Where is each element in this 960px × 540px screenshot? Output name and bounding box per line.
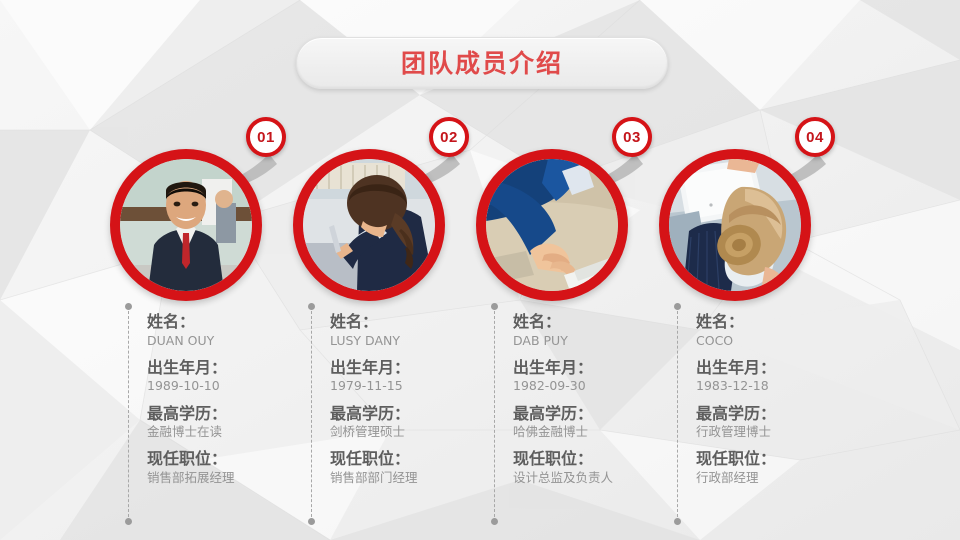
field-label-education: 最高学历： [147,404,287,424]
field-birth: 出生年月： 1983-12-18 [696,358,836,395]
field-position: 现任职位： 设计总监及负责人 [513,449,653,486]
field-value-name: LUSY DANY [330,333,470,349]
field-value-birth: 1989-10-10 [147,378,287,394]
member-photo-2[interactable] [293,149,445,301]
field-label-name: 姓名： [513,312,653,332]
field-birth: 出生年月： 1982-09-30 [513,358,653,395]
field-education: 最高学历： 金融博士在读 [147,404,287,441]
field-birth: 出生年月： 1989-10-10 [147,358,287,395]
field-name: 姓名： DUAN OUY [147,312,287,349]
member-photo-4[interactable] [659,149,811,301]
field-value-position: 设计总监及负责人 [513,470,653,486]
photo-image [669,159,801,291]
field-label-position: 现任职位： [330,449,470,469]
field-name: 姓名： COCO [696,312,836,349]
field-value-name: COCO [696,333,836,349]
field-position: 现任职位： 销售部拓展经理 [147,449,287,486]
badge-number: 04 [806,130,824,145]
badge-number: 02 [440,130,458,145]
badge-number: 01 [257,130,275,145]
member-divider-3 [491,303,499,525]
field-value-birth: 1979-11-15 [330,378,470,394]
field-label-birth: 出生年月： [330,358,470,378]
field-value-education: 剑桥管理硕士 [330,424,470,440]
member-info-3: 姓名： DAB PUY 出生年月： 1982-09-30 最高学历： 哈佛金融博… [513,312,653,486]
field-position: 现任职位： 销售部部门经理 [330,449,470,486]
field-education: 最高学历： 剑桥管理硕士 [330,404,470,441]
divider-dot-top [125,303,132,310]
field-value-name: DUAN OUY [147,333,287,349]
field-name: 姓名： LUSY DANY [330,312,470,349]
member-card-4[interactable]: 04 姓名： COCO 出生年月： 1983-12-18 最高学历： 行政管理博… [640,0,830,540]
field-label-position: 现任职位： [147,449,287,469]
field-label-education: 最高学历： [513,404,653,424]
photo-image [486,159,618,291]
field-value-position: 行政部经理 [696,470,836,486]
badge-number: 03 [623,130,641,145]
field-education: 最高学历： 哈佛金融博士 [513,404,653,441]
member-divider-1 [125,303,133,525]
field-label-education: 最高学历： [330,404,470,424]
divider-dashed-line [311,311,312,517]
divider-dot-top [491,303,498,310]
member-info-4: 姓名： COCO 出生年月： 1983-12-18 最高学历： 行政管理博士 现… [696,312,836,486]
field-education: 最高学历： 行政管理博士 [696,404,836,441]
divider-dashed-line [677,311,678,517]
field-label-name: 姓名： [330,312,470,332]
field-value-position: 销售部拓展经理 [147,470,287,486]
member-divider-4 [674,303,682,525]
photo-image [120,159,252,291]
field-value-position: 销售部部门经理 [330,470,470,486]
member-photo-1[interactable] [110,149,262,301]
field-label-name: 姓名： [696,312,836,332]
divider-dot-bottom [308,518,315,525]
divider-dot-bottom [674,518,681,525]
field-label-position: 现任职位： [696,449,836,469]
field-value-education: 行政管理博士 [696,424,836,440]
field-value-education: 哈佛金融博士 [513,424,653,440]
field-value-education: 金融博士在读 [147,424,287,440]
member-badge-4: 04 [795,117,835,157]
field-label-position: 现任职位： [513,449,653,469]
divider-dashed-line [128,311,129,517]
field-label-education: 最高学历： [696,404,836,424]
field-birth: 出生年月： 1979-11-15 [330,358,470,395]
photo-image [303,159,435,291]
member-card-1[interactable]: 01 姓名： DUAN OUY 出生年月： 1989-10-10 最高学历： 金… [91,0,281,540]
divider-dot-bottom [491,518,498,525]
field-name: 姓名： DAB PUY [513,312,653,349]
divider-dot-top [674,303,681,310]
divider-dashed-line [494,311,495,517]
field-value-name: DAB PUY [513,333,653,349]
member-photo-3[interactable] [476,149,628,301]
slide-title-pill: 团队成员介绍 [296,37,668,89]
field-label-birth: 出生年月： [147,358,287,378]
field-label-name: 姓名： [147,312,287,332]
divider-dot-top [308,303,315,310]
field-label-birth: 出生年月： [513,358,653,378]
field-value-birth: 1982-09-30 [513,378,653,394]
field-label-birth: 出生年月： [696,358,836,378]
field-value-birth: 1983-12-18 [696,378,836,394]
member-divider-2 [308,303,316,525]
field-position: 现任职位： 行政部经理 [696,449,836,486]
member-info-2: 姓名： LUSY DANY 出生年月： 1979-11-15 最高学历： 剑桥管… [330,312,470,486]
divider-dot-bottom [125,518,132,525]
member-info-1: 姓名： DUAN OUY 出生年月： 1989-10-10 最高学历： 金融博士… [147,312,287,486]
page-title: 团队成员介绍 [401,51,563,76]
